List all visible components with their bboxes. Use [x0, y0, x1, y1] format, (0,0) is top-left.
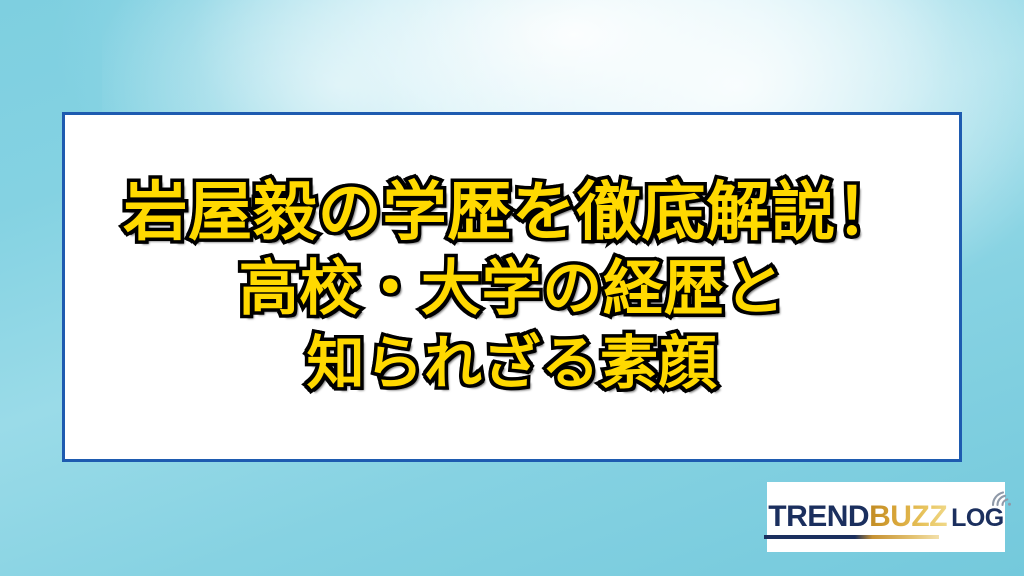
logo-text-buzz: BUZZ — [869, 502, 947, 532]
title-line-2: 高校・大学の経歴と — [77, 256, 947, 323]
title-line-1: 岩屋毅の学歴を徹底解説！ — [77, 178, 947, 250]
logo-text-log: LOG — [951, 506, 1004, 531]
wifi-signal-icon — [988, 483, 1014, 507]
brand-logo-badge[interactable]: TREND BUZZ LOG — [767, 482, 1005, 552]
title-line-3: 知られざる素顔 — [77, 331, 947, 396]
brand-wordmark: TREND BUZZ LOG — [768, 502, 1004, 532]
logo-text-trend: TREND — [768, 502, 869, 532]
title-card: 岩屋毅の学歴を徹底解説！ 高校・大学の経歴と 知られざる素顔 — [62, 112, 962, 462]
title-block: 岩屋毅の学歴を徹底解説！ 高校・大学の経歴と 知られざる素顔 — [65, 178, 959, 396]
logo-underline-bar — [764, 535, 939, 539]
brand-logo-inner: TREND BUZZ LOG — [762, 502, 1010, 532]
thumbnail-canvas: 岩屋毅の学歴を徹底解説！ 高校・大学の経歴と 知られざる素顔 TREND BUZ… — [0, 0, 1024, 576]
